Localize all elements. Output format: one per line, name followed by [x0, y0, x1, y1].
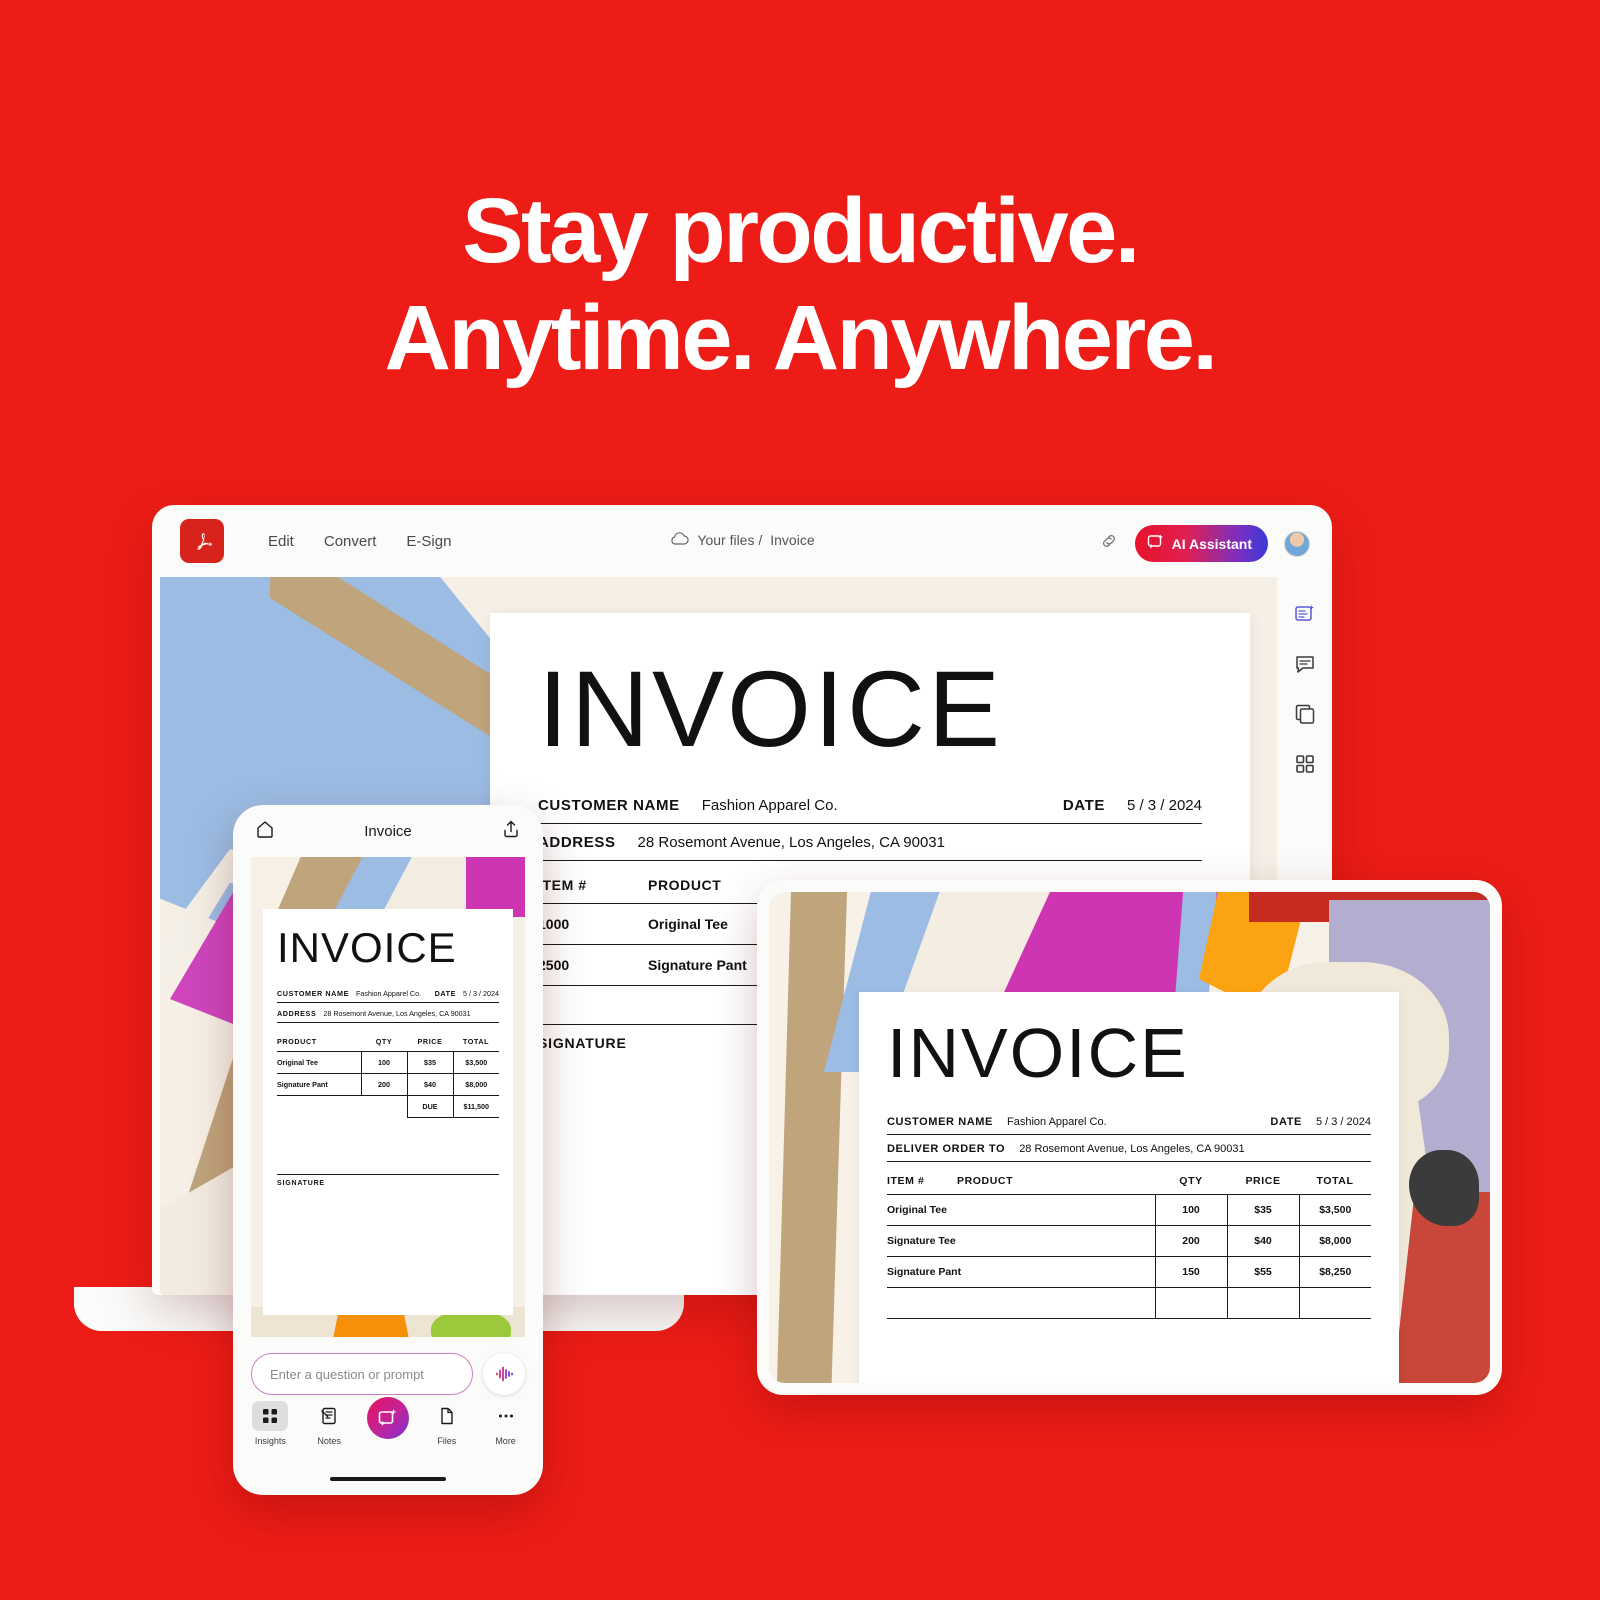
cell-qty: 150: [1155, 1257, 1227, 1288]
address-value: 28 Rosemont Avenue, Los Angeles, CA 9003…: [638, 834, 945, 851]
ai-assistant-fab-icon: [367, 1397, 409, 1439]
nav-label-more: More: [495, 1436, 516, 1446]
apps-grid-icon[interactable]: [1288, 747, 1322, 781]
cell-product: [887, 1288, 1155, 1319]
customer-name-label: CUSTOMER NAME: [277, 989, 349, 998]
ai-assistant-icon[interactable]: [1288, 597, 1322, 631]
cell-qty: 100: [361, 1052, 407, 1074]
invoice-title: INVOICE: [277, 927, 499, 969]
menu-item-convert[interactable]: Convert: [324, 533, 377, 550]
cell-price: $55: [1227, 1257, 1299, 1288]
cell-item: 1000: [538, 904, 648, 945]
deliver-order-to-value: 28 Rosemont Avenue, Los Angeles, CA 9003…: [1019, 1143, 1244, 1155]
cell-product: Original Tee: [887, 1195, 1155, 1226]
invoice-customer-row: CUSTOMER NAME Fashion Apparel Co. DATE 5…: [277, 983, 499, 1003]
phone-header: Invoice: [233, 805, 543, 857]
date-value: 5 / 3 / 2024: [1316, 1116, 1371, 1128]
table-row-due: DUE $11,500: [277, 1096, 499, 1118]
breadcrumb-root[interactable]: Your files /: [697, 532, 762, 548]
table-row: Signature Pant 150 $55 $8,250: [887, 1257, 1371, 1288]
customer-name-label: CUSTOMER NAME: [538, 797, 680, 814]
nav-item-more[interactable]: More: [478, 1401, 534, 1446]
customer-name-value: Fashion Apparel Co.: [702, 797, 838, 814]
date-value: 5 / 3 / 2024: [463, 989, 499, 998]
invoice-address-row: ADDRESS 28 Rosemont Avenue, Los Angeles,…: [277, 1003, 499, 1023]
menu-item-edit[interactable]: Edit: [268, 533, 294, 550]
ai-assistant-button[interactable]: AI Assistant: [1135, 525, 1268, 562]
nav-item-insights[interactable]: Insights: [242, 1401, 298, 1446]
col-total: TOTAL: [453, 1023, 499, 1052]
breadcrumb-current[interactable]: Invoice: [770, 532, 814, 548]
cell-product: Signature Pant: [277, 1074, 361, 1096]
ai-sparkle-icon: [1147, 533, 1165, 554]
customer-name-value: Fashion Apparel Co.: [1007, 1116, 1107, 1128]
due-label: DUE: [407, 1096, 453, 1118]
cell-price: $40: [407, 1074, 453, 1096]
cell-total: $3,500: [1299, 1195, 1371, 1226]
headline-line-1: Stay productive.: [462, 180, 1138, 282]
cloud-icon: [669, 531, 689, 548]
address-value: 28 Rosemont Avenue, Los Angeles, CA 9003…: [323, 1009, 470, 1018]
date-value: 5 / 3 / 2024: [1127, 797, 1202, 814]
table-row: Signature Tee 200 $40 $8,000: [887, 1226, 1371, 1257]
table-row: Original Tee 100 $35 $3,500: [887, 1195, 1371, 1226]
table-header-row: PRODUCT QTY PRICE TOTAL: [277, 1023, 499, 1052]
tablet-device: INVOICE CUSTOMER NAME Fashion Apparel Co…: [757, 880, 1502, 1395]
cell-item: 2500: [538, 945, 648, 986]
customer-name-label: CUSTOMER NAME: [887, 1116, 993, 1128]
tablet-invoice-page: INVOICE CUSTOMER NAME Fashion Apparel Co…: [859, 992, 1399, 1383]
customer-name-value: Fashion Apparel Co.: [356, 989, 421, 998]
due-value: $11,500: [453, 1096, 499, 1118]
cell-price: $35: [1227, 1195, 1299, 1226]
phone-bottom-nav: Insights Notes Files More: [241, 1401, 535, 1463]
table-header-row: ITEM # PRODUCT QTY PRICE TOTAL: [887, 1162, 1371, 1195]
phone-invoice-table: PRODUCT QTY PRICE TOTAL Original Tee 100…: [277, 1023, 499, 1118]
cell-total: $8,000: [1299, 1226, 1371, 1257]
cell-total: [1299, 1288, 1371, 1319]
cell-product: Signature Pant: [887, 1257, 1155, 1288]
signature-area: SIGNATURE: [277, 1174, 499, 1187]
cell-product: Signature Tee: [887, 1226, 1155, 1257]
table-row: Original Tee 100 $35 $3,500: [277, 1052, 499, 1074]
phone-document-viewport: INVOICE CUSTOMER NAME Fashion Apparel Co…: [251, 857, 525, 1337]
invoice-address-row: ADDRESS 28 Rosemont Avenue, Los Angeles,…: [538, 824, 1202, 861]
grid-icon: [252, 1401, 288, 1431]
deliver-order-to-label: DELIVER ORDER TO: [887, 1143, 1005, 1155]
nav-item-files[interactable]: Files: [419, 1401, 475, 1446]
invoice-customer-row: CUSTOMER NAME Fashion Apparel Co. DATE 5…: [538, 787, 1202, 824]
hero-headline: Stay productive. Anytime. Anywhere.: [0, 178, 1600, 391]
cell-qty: 200: [361, 1074, 407, 1096]
invoice-title: INVOICE: [887, 1018, 1371, 1088]
pages-icon[interactable]: [1288, 697, 1322, 731]
home-indicator: [330, 1477, 446, 1481]
tablet-invoice-table: ITEM # PRODUCT QTY PRICE TOTAL Original …: [887, 1162, 1371, 1319]
share-link-icon[interactable]: [1099, 531, 1119, 556]
address-label: ADDRESS: [277, 1009, 316, 1018]
table-row: Signature Pant 200 $40 $8,000: [277, 1074, 499, 1096]
cell-price: $40: [1227, 1226, 1299, 1257]
cell-qty: 100: [1155, 1195, 1227, 1226]
cell-empty-qty: [361, 1096, 407, 1118]
more-icon: [488, 1401, 524, 1431]
breadcrumb: Your files / Invoice: [669, 531, 814, 548]
voice-waveform-icon[interactable]: [483, 1353, 525, 1395]
menu-item-esign[interactable]: E-Sign: [406, 533, 451, 550]
col-total: TOTAL: [1299, 1162, 1371, 1195]
col-price: PRICE: [1227, 1162, 1299, 1195]
nav-label-files: Files: [437, 1436, 456, 1446]
cell-qty: [1155, 1288, 1227, 1319]
headline-line-2: Anytime. Anywhere.: [0, 285, 1600, 392]
files-icon: [429, 1401, 465, 1431]
invoice-customer-row: CUSTOMER NAME Fashion Apparel Co. DATE 5…: [887, 1108, 1371, 1135]
phone-device: Invoice INVOICE CUSTOMER NAME Fashion Ap…: [233, 805, 543, 1495]
cell-qty: 200: [1155, 1226, 1227, 1257]
signature-label: SIGNATURE: [277, 1180, 499, 1187]
date-label: DATE: [1270, 1116, 1302, 1128]
avatar[interactable]: [1284, 531, 1310, 557]
nav-item-notes[interactable]: Notes: [301, 1401, 357, 1446]
cell-price: $35: [407, 1052, 453, 1074]
nav-label-notes: Notes: [317, 1436, 341, 1446]
nav-item-ai-assistant[interactable]: [360, 1401, 416, 1439]
col-item: ITEM #: [887, 1162, 957, 1195]
col-product: PRODUCT: [277, 1023, 361, 1052]
invoice-address-row: DELIVER ORDER TO 28 Rosemont Avenue, Los…: [887, 1135, 1371, 1162]
cell-total: $8,000: [453, 1074, 499, 1096]
address-label: ADDRESS: [538, 834, 616, 851]
date-label: DATE: [1063, 797, 1105, 814]
adobe-acrobat-logo-icon[interactable]: [180, 519, 224, 563]
col-item: ITEM #: [538, 861, 648, 904]
nav-label-insights: Insights: [255, 1436, 286, 1446]
cell-total: $3,500: [453, 1052, 499, 1074]
comment-icon[interactable]: [1288, 647, 1322, 681]
cell-total: $8,250: [1299, 1257, 1371, 1288]
ai-assistant-label: AI Assistant: [1172, 536, 1252, 552]
date-label: DATE: [435, 989, 456, 998]
col-price: PRICE: [407, 1023, 453, 1052]
col-qty: QTY: [1155, 1162, 1227, 1195]
laptop-toolbar-right: AI Assistant: [1099, 525, 1310, 562]
notes-icon: [311, 1401, 347, 1431]
laptop-menu: Edit Convert E-Sign: [268, 533, 451, 550]
cell-price: [1227, 1288, 1299, 1319]
col-qty: QTY: [361, 1023, 407, 1052]
col-product: PRODUCT: [957, 1162, 1155, 1195]
phone-prompt-bar: Enter a question or prompt: [251, 1353, 525, 1395]
phone-title: Invoice: [233, 823, 543, 840]
tablet-screen: INVOICE CUSTOMER NAME Fashion Apparel Co…: [769, 892, 1490, 1383]
prompt-input[interactable]: Enter a question or prompt: [251, 1353, 473, 1395]
cell-empty: [277, 1096, 361, 1118]
table-row: [887, 1288, 1371, 1319]
cell-product: Original Tee: [277, 1052, 361, 1074]
invoice-title: INVOICE: [538, 655, 1202, 763]
phone-invoice-page: INVOICE CUSTOMER NAME Fashion Apparel Co…: [263, 909, 513, 1315]
